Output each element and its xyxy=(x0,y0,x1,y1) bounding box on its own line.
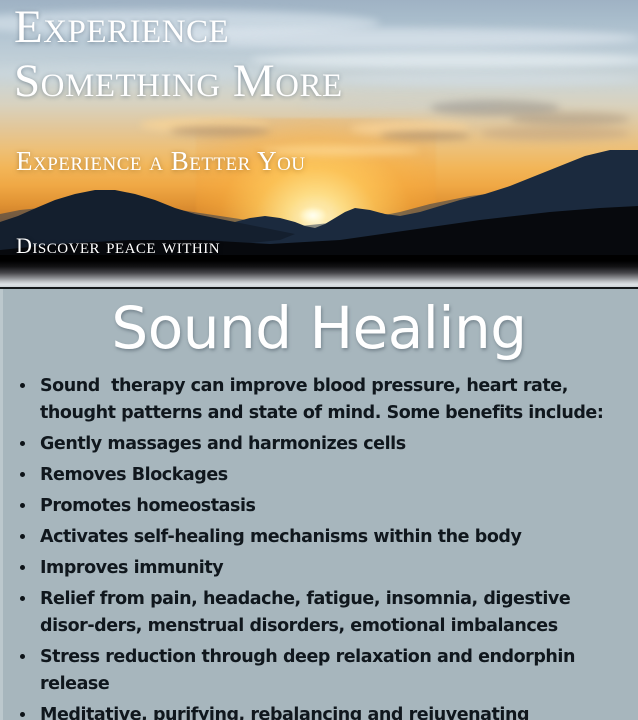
list-item: Meditative, purifying, rebalancing and r… xyxy=(0,702,638,720)
content-panel: Sound Healing Sound therapy can improve … xyxy=(0,289,638,720)
hero-subheadline: Experience a Better You xyxy=(16,145,306,177)
list-item-label: Activates self-healing mechanisms within… xyxy=(40,524,630,551)
hero-headline-line-2: Something More xyxy=(14,56,343,106)
list-item-label: Sound therapy can improve blood pressure… xyxy=(40,373,630,427)
list-item: Gently massages and harmonizes cells xyxy=(0,431,638,458)
list-item: Improves immunity xyxy=(0,555,638,582)
bullet-dot-icon xyxy=(20,565,25,570)
bullet-dot-icon xyxy=(20,534,25,539)
list-item-label: Removes Blockages xyxy=(40,462,630,489)
bullet-dot-icon xyxy=(20,503,25,508)
hero-banner-image: Experience Something More Experience a B… xyxy=(0,0,638,289)
list-item: Relief from pain, headache, fatigue, ins… xyxy=(0,586,638,640)
benefits-list: Sound therapy can improve blood pressure… xyxy=(0,373,638,720)
bullet-dot-icon xyxy=(20,383,25,388)
hero-tagline: Discover peace within xyxy=(16,233,220,259)
list-item-label: Meditative, purifying, rebalancing and r… xyxy=(40,702,630,720)
bullet-dot-icon xyxy=(20,472,25,477)
list-item: Sound therapy can improve blood pressure… xyxy=(0,373,638,427)
bullet-dot-icon xyxy=(20,596,25,601)
bullet-dot-icon xyxy=(20,712,25,717)
list-item-label: Improves immunity xyxy=(40,555,630,582)
list-item-label: Gently massages and harmonizes cells xyxy=(40,431,630,458)
hero-text-group: Experience Something More Experience a B… xyxy=(0,0,638,289)
list-item-label: Stress reduction through deep relaxation… xyxy=(40,644,630,698)
list-item: Activates self-healing mechanisms within… xyxy=(0,524,638,551)
poster: Experience Something More Experience a B… xyxy=(0,0,638,720)
bullet-dot-icon xyxy=(20,654,25,659)
hero-headline-line-1: Experience xyxy=(14,2,229,52)
list-item: Stress reduction through deep relaxation… xyxy=(0,644,638,698)
page-title: Sound Healing xyxy=(0,295,638,361)
list-item-label: Relief from pain, headache, fatigue, ins… xyxy=(40,586,630,640)
list-item-label: Promotes homeostasis xyxy=(40,493,630,520)
bullet-dot-icon xyxy=(20,441,25,446)
list-item: Removes Blockages xyxy=(0,462,638,489)
list-item: Promotes homeostasis xyxy=(0,493,638,520)
